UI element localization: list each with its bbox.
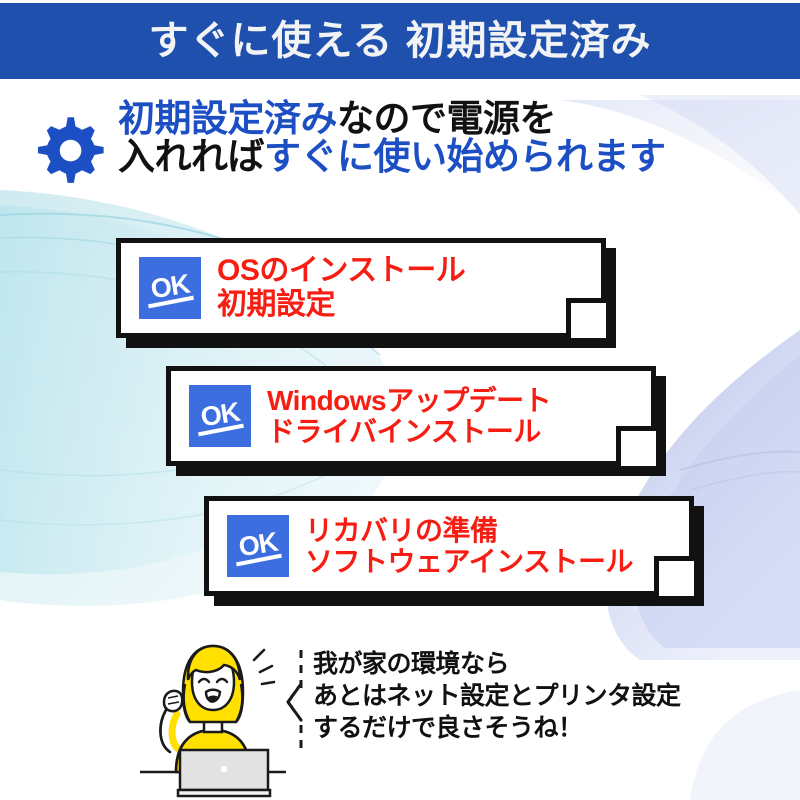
card-2-line-2: ドライバインストール bbox=[267, 416, 551, 447]
card-2-line-1: Windowsアップデート bbox=[267, 385, 551, 416]
ok-badge-1: OK bbox=[139, 257, 201, 319]
feature-card-3: OK リカバリの準備 ソフトウェアインストール bbox=[204, 496, 694, 596]
banner-title: すぐに使える 初期設定済み bbox=[149, 21, 652, 61]
card-1-line-1: OSのインストール bbox=[217, 254, 465, 288]
card-3-line-2: ソフトウェアインストール bbox=[305, 546, 633, 577]
gear-icon bbox=[36, 116, 108, 188]
headline-line1-blue: 初期設定済み bbox=[118, 98, 337, 139]
card-text-3: リカバリの準備 ソフトウェアインストール bbox=[305, 515, 633, 578]
card-1-line-2: 初期設定 bbox=[217, 288, 465, 322]
headline-line2-blue: すぐに使い始められます bbox=[264, 136, 666, 177]
advertisement-page: すぐに使える 初期設定済み 初期設定済みなので電源を 入れればすぐに使い始められ… bbox=[0, 0, 800, 800]
card-3-line-1: リカバリの準備 bbox=[305, 515, 633, 546]
speech-text: 我が家の環境なら あとはネット設定とプリンタ設定 するだけで良さそうね！ bbox=[313, 648, 681, 744]
headline-line1-black: なので電源を bbox=[337, 98, 556, 139]
card-fold-corner-1 bbox=[566, 298, 606, 338]
speech-line-3: するだけで良さそうね！ bbox=[313, 712, 681, 744]
speech-line-2: あとはネット設定とプリンタ設定 bbox=[313, 680, 681, 712]
woman-with-laptop-illustration bbox=[128, 632, 298, 800]
feature-card-1: OK OSのインストール 初期設定 bbox=[116, 238, 606, 338]
headline-text: 初期設定済みなので電源を 入れればすぐに使い始められます bbox=[118, 100, 798, 175]
card-fold-corner-2 bbox=[616, 426, 656, 466]
feature-card-2: OK Windowsアップデート ドライバインストール bbox=[166, 366, 656, 466]
speech-callout: 我が家の環境なら あとはネット設定とプリンタ設定 するだけで良さそうね！ bbox=[283, 648, 753, 756]
ok-badge-3: OK bbox=[227, 515, 289, 577]
headline-line-2: 入れればすぐに使い始められます bbox=[118, 138, 798, 176]
card-text-2: Windowsアップデート ドライバインストール bbox=[267, 385, 551, 448]
headline-line2-black: 入れれば bbox=[118, 136, 264, 177]
speech-bracket-icon bbox=[283, 648, 309, 756]
speech-line-1: 我が家の環境なら bbox=[313, 648, 681, 680]
headline-line-1: 初期設定済みなので電源を bbox=[118, 100, 798, 138]
top-banner: すぐに使える 初期設定済み bbox=[0, 3, 800, 79]
ok-badge-2: OK bbox=[189, 385, 251, 447]
card-fold-corner-3 bbox=[654, 556, 694, 596]
card-text-1: OSのインストール 初期設定 bbox=[217, 254, 465, 321]
